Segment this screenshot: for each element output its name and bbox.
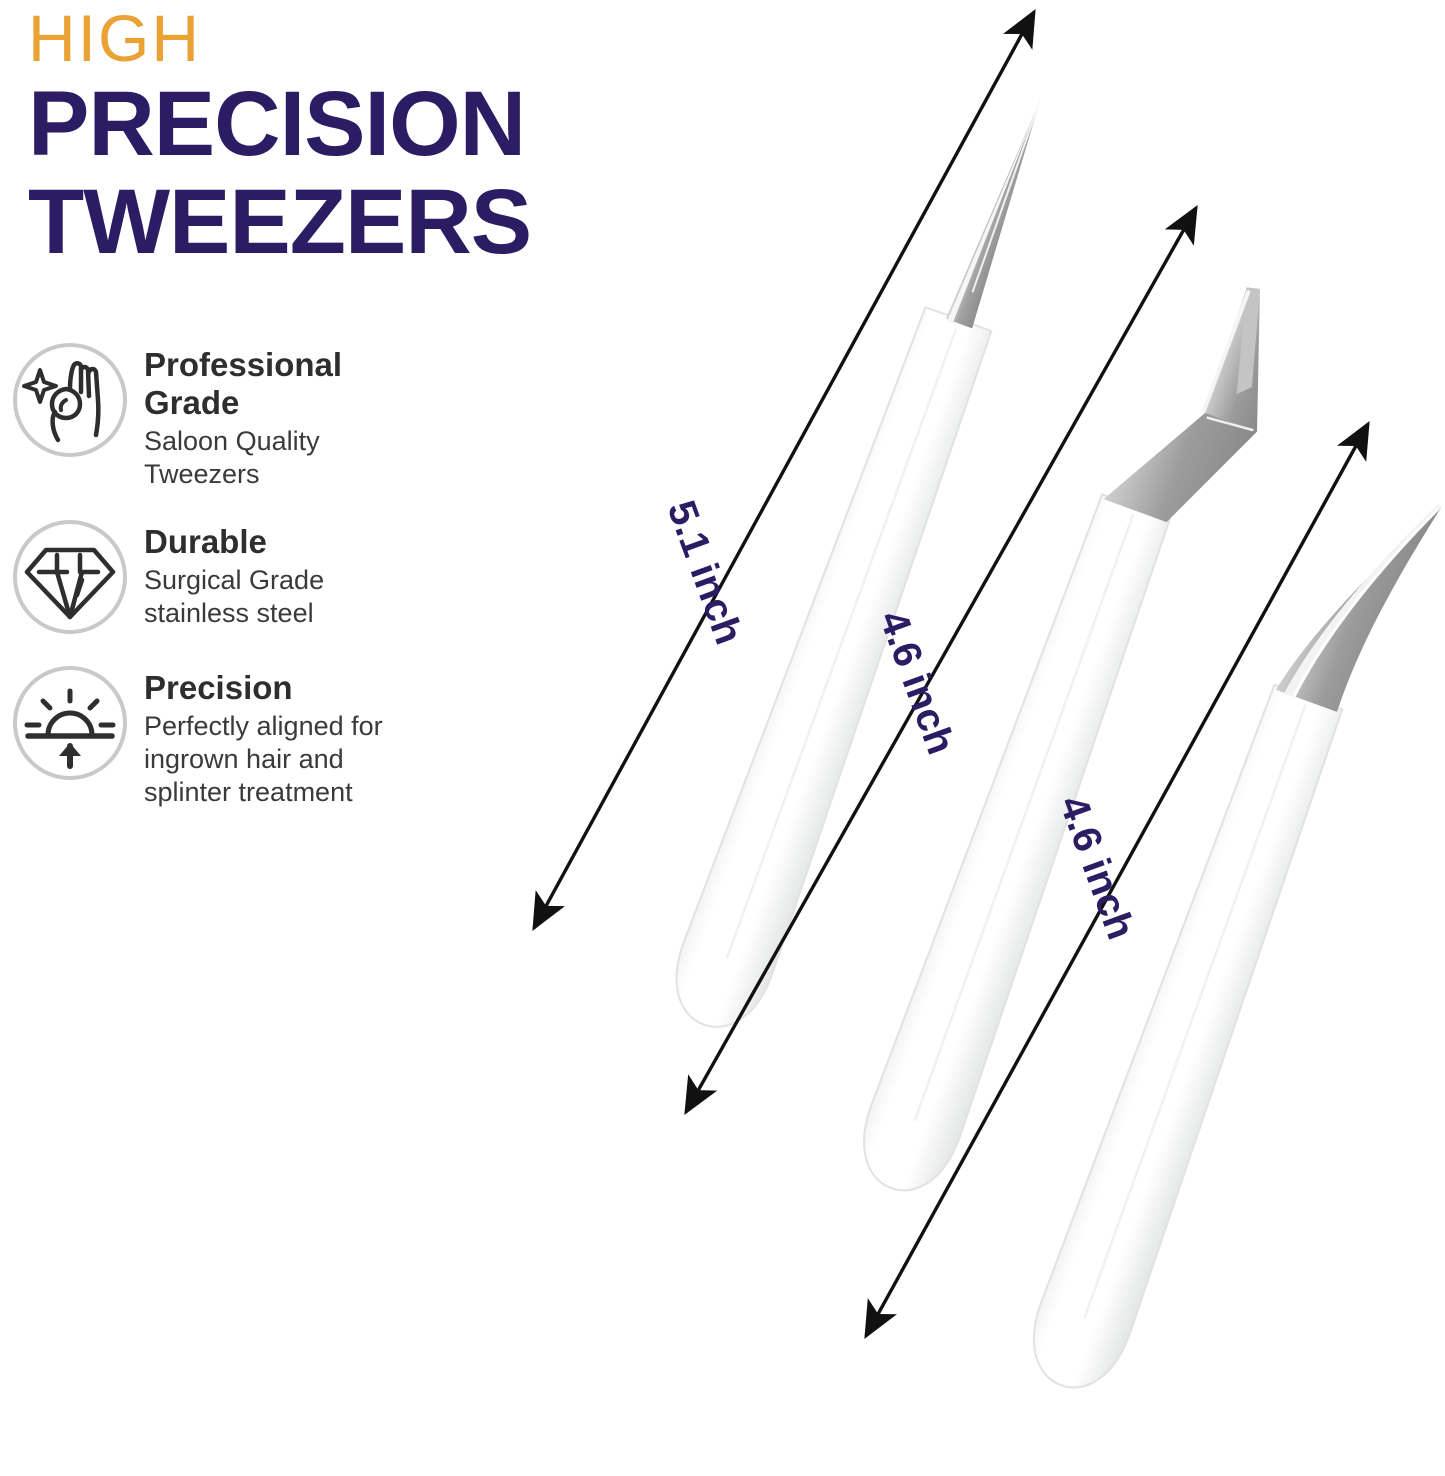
infographic-canvas: HIGH PRECISION TWEEZERS — [0, 0, 1445, 1476]
product-photo-group — [0, 0, 1445, 1476]
